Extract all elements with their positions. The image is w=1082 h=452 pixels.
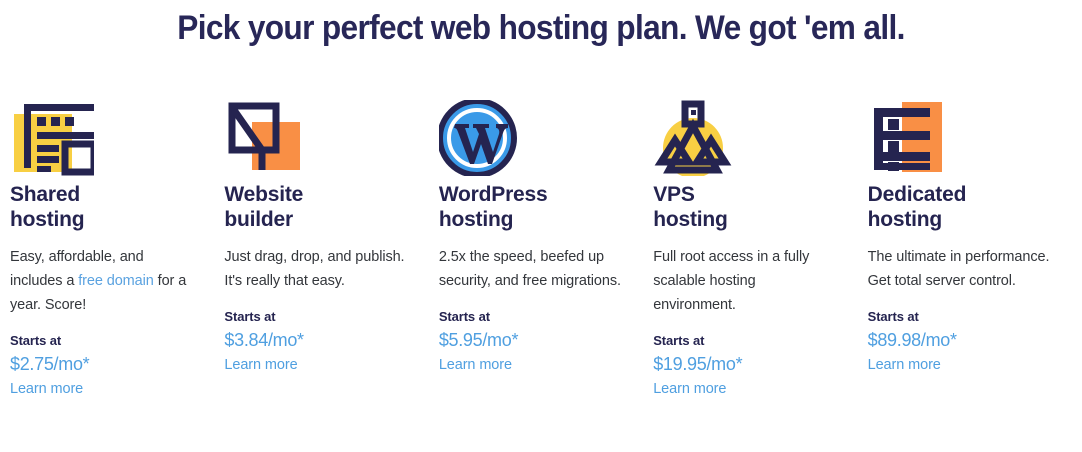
hosting-plans-section: Pick your perfect web hosting plan. We g… [0,0,1082,452]
plan-title: Shared hosting [10,182,192,232]
desc-text-before: Full root access in a fully scalable hos… [653,249,809,313]
plan-description: Full root access in a fully scalable hos… [653,245,835,317]
wordpress-logo-icon [439,100,621,182]
desc-text-before: The ultimate in performance. Get total s… [868,249,1050,289]
plan-card-wordpress-hosting: WordPress hosting 2.5x the speed, beefed… [439,100,653,398]
learn-more-link[interactable]: Learn more [868,357,941,373]
learn-more-link[interactable]: Learn more [10,381,83,397]
plan-grid: Shared hosting Easy, affordable, and inc… [10,100,1082,398]
plan-card-shared-hosting: Shared hosting Easy, affordable, and inc… [10,100,224,398]
plan-description: Easy, affordable, and includes a free do… [10,245,192,317]
starts-at-label: Starts at [224,309,406,324]
desc-text-before: Just drag, drop, and publish. It's reall… [224,249,404,289]
plan-card-vps-hosting: VPS hosting Full root access in a fully … [653,100,867,398]
starts-at-label: Starts at [868,309,1050,324]
browser-wireframe-icon [10,100,192,182]
server-rack-icon [868,100,1050,182]
starts-at-label: Starts at [439,309,621,324]
plan-price: $89.98/mo* [868,330,1050,351]
page-title: Pick your perfect web hosting plan. We g… [38,2,1044,54]
plan-title: Website builder [224,182,406,232]
plan-description: The ultimate in performance. Get total s… [868,245,1050,293]
learn-more-link[interactable]: Learn more [224,357,297,373]
starts-at-label: Starts at [10,333,192,348]
plan-price: $5.95/mo* [439,330,621,351]
learn-more-link[interactable]: Learn more [439,357,512,373]
page-fold-square-icon [224,100,406,182]
mountain-sun-icon [653,100,835,182]
plan-title: VPS hosting [653,182,835,232]
free-domain-link[interactable]: free domain [78,273,153,289]
starts-at-label: Starts at [653,333,835,348]
plan-price: $19.95/mo* [653,354,835,375]
plan-description: Just drag, drop, and publish. It's reall… [224,245,406,293]
plan-description: 2.5x the speed, beefed up security, and … [439,245,621,293]
plan-price: $2.75/mo* [10,354,192,375]
learn-more-link[interactable]: Learn more [653,381,726,397]
desc-text-before: 2.5x the speed, beefed up security, and … [439,249,621,289]
plan-title: Dedicated hosting [868,182,1050,232]
plan-card-website-builder: Website builder Just drag, drop, and pub… [224,100,438,398]
plan-title: WordPress hosting [439,182,621,232]
plan-price: $3.84/mo* [224,330,406,351]
plan-card-dedicated-hosting: Dedicated hosting The ultimate in perfor… [868,100,1082,398]
